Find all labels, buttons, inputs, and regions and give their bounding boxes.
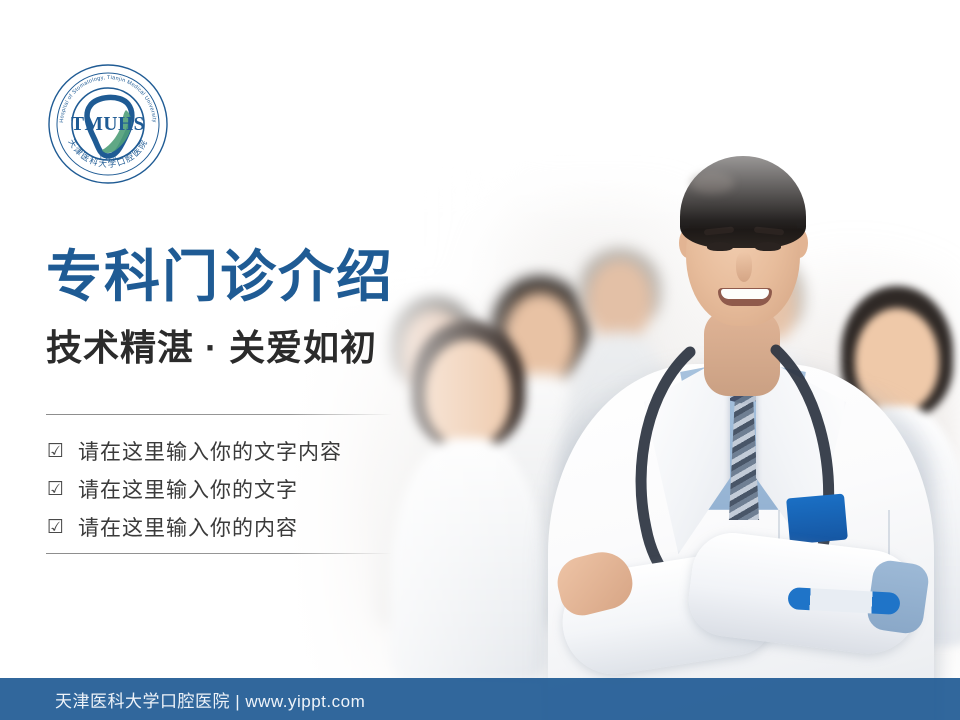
list-item-label: 请在这里输入你的文字内容 bbox=[78, 436, 342, 466]
footer-bar: 天津医科大学口腔医院 | www.yippt.com bbox=[0, 678, 960, 720]
tmuhs-hospital-logo: TMUHS Hospital of Stomatology, Tianjin M… bbox=[46, 62, 170, 186]
hair bbox=[680, 156, 806, 248]
nose bbox=[736, 252, 752, 282]
eye-left bbox=[707, 242, 733, 251]
logo-acronym: TMUHS bbox=[71, 114, 145, 135]
background-figure-6 bbox=[390, 320, 546, 680]
page-title: 专科门诊介绍 bbox=[46, 248, 394, 307]
id-badge bbox=[786, 494, 848, 545]
list-item[interactable]: ☑ 请在这里输入你的内容 bbox=[46, 508, 406, 546]
list-item-label: 请在这里输入你的内容 bbox=[78, 512, 298, 542]
lead-doctor-figure bbox=[540, 92, 940, 720]
footer-text: 天津医科大学口腔医院 | www.yippt.com bbox=[55, 687, 365, 712]
eye-right bbox=[755, 242, 781, 251]
logo-year: 1974 bbox=[99, 153, 117, 162]
divider-bottom bbox=[46, 553, 392, 554]
checkbox-checked-icon: ☑ bbox=[46, 518, 66, 537]
list-item-label: 请在这里输入你的文字 bbox=[78, 474, 298, 504]
list-item[interactable]: ☑ 请在这里输入你的文字 bbox=[46, 470, 406, 508]
divider-top bbox=[46, 414, 392, 415]
smiling-mouth bbox=[718, 288, 772, 306]
checkbox-checked-icon: ☑ bbox=[46, 442, 66, 461]
list-item[interactable]: ☑ 请在这里输入你的文字内容 bbox=[46, 432, 406, 470]
page-subtitle: 技术精湛 · 关爱如初 bbox=[46, 326, 377, 369]
teeth bbox=[721, 289, 769, 299]
checkbox-checked-icon: ☑ bbox=[46, 480, 66, 499]
bullet-list: ☑ 请在这里输入你的文字内容 ☑ 请在这里输入你的文字 ☑ 请在这里输入你的内容 bbox=[46, 432, 406, 546]
slide-canvas: TMUHS Hospital of Stomatology, Tianjin M… bbox=[0, 0, 960, 720]
